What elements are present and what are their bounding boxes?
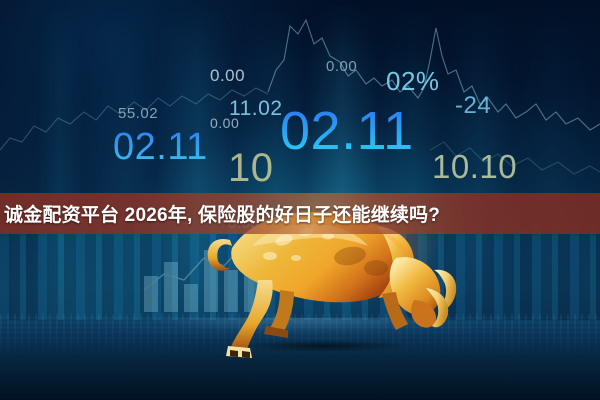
ticker-value: 02% (386, 66, 440, 97)
ticker-value: 0.00 (210, 66, 245, 86)
ticker-value: 02.11 (113, 126, 208, 169)
title-banner: 诚金配资平台 2026年, 保险股的好日子还能继续吗? (0, 193, 600, 234)
ticker-value: 10 (228, 146, 274, 191)
ticker-value: 10.10 (432, 148, 517, 186)
stock-market-banner-image: 0.00 55.02 11.02 0.00 02.11 10 0.00 02% … (0, 0, 600, 400)
ticker-value: 02.11 (280, 100, 414, 162)
page-title: 诚金配资平台 2026年, 保险股的好日子还能继续吗? (0, 200, 440, 227)
ticker-value: 55.02 (118, 105, 158, 122)
ticker-value: 0.00 (326, 58, 357, 75)
ticker-value: -24 (455, 92, 491, 120)
bull-shadow (218, 338, 433, 354)
ticker-value: 0.00 (210, 115, 239, 131)
